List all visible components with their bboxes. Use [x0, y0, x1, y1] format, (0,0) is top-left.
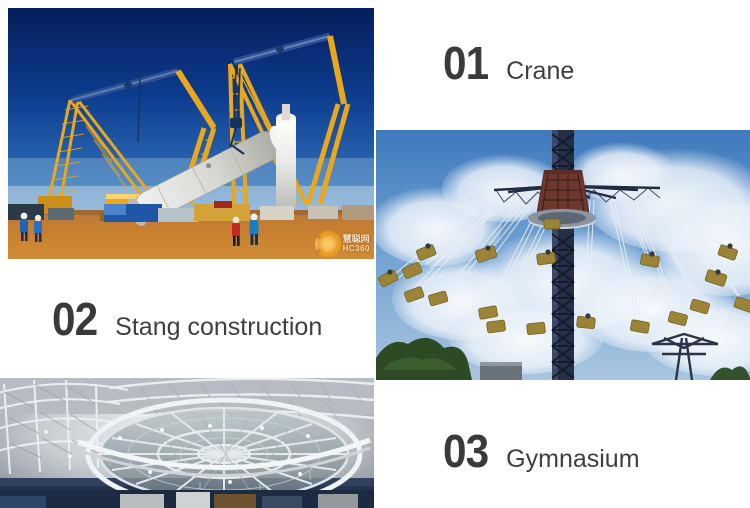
caption-crane: 01 Crane: [443, 40, 574, 86]
arena-floor: [0, 490, 374, 508]
panel-image-crane[interactable]: 慧聪网 HC360: [8, 8, 374, 259]
gymnasium-dome-illustration: [0, 378, 374, 508]
background-silo: [276, 104, 296, 208]
caption-label-gymnasium: Gymnasium: [506, 444, 639, 474]
caption-label-crane: Crane: [506, 56, 574, 86]
caption-number-01: 01: [443, 40, 488, 86]
caption-number-02: 02: [52, 296, 97, 342]
swing-tower-scene-illustration: [376, 130, 750, 380]
crane-scene-illustration: [8, 8, 374, 259]
panel-image-gymnasium[interactable]: [0, 378, 374, 508]
caption-gymnasium: 03 Gymnasium: [443, 428, 640, 474]
caption-stang: 02 Stang construction: [52, 296, 322, 342]
caption-number-03: 03: [443, 428, 488, 474]
panel-image-stang[interactable]: [376, 130, 750, 380]
collage-stage: 慧聪网 HC360: [0, 0, 750, 508]
caption-label-stang: Stang construction: [115, 312, 322, 342]
